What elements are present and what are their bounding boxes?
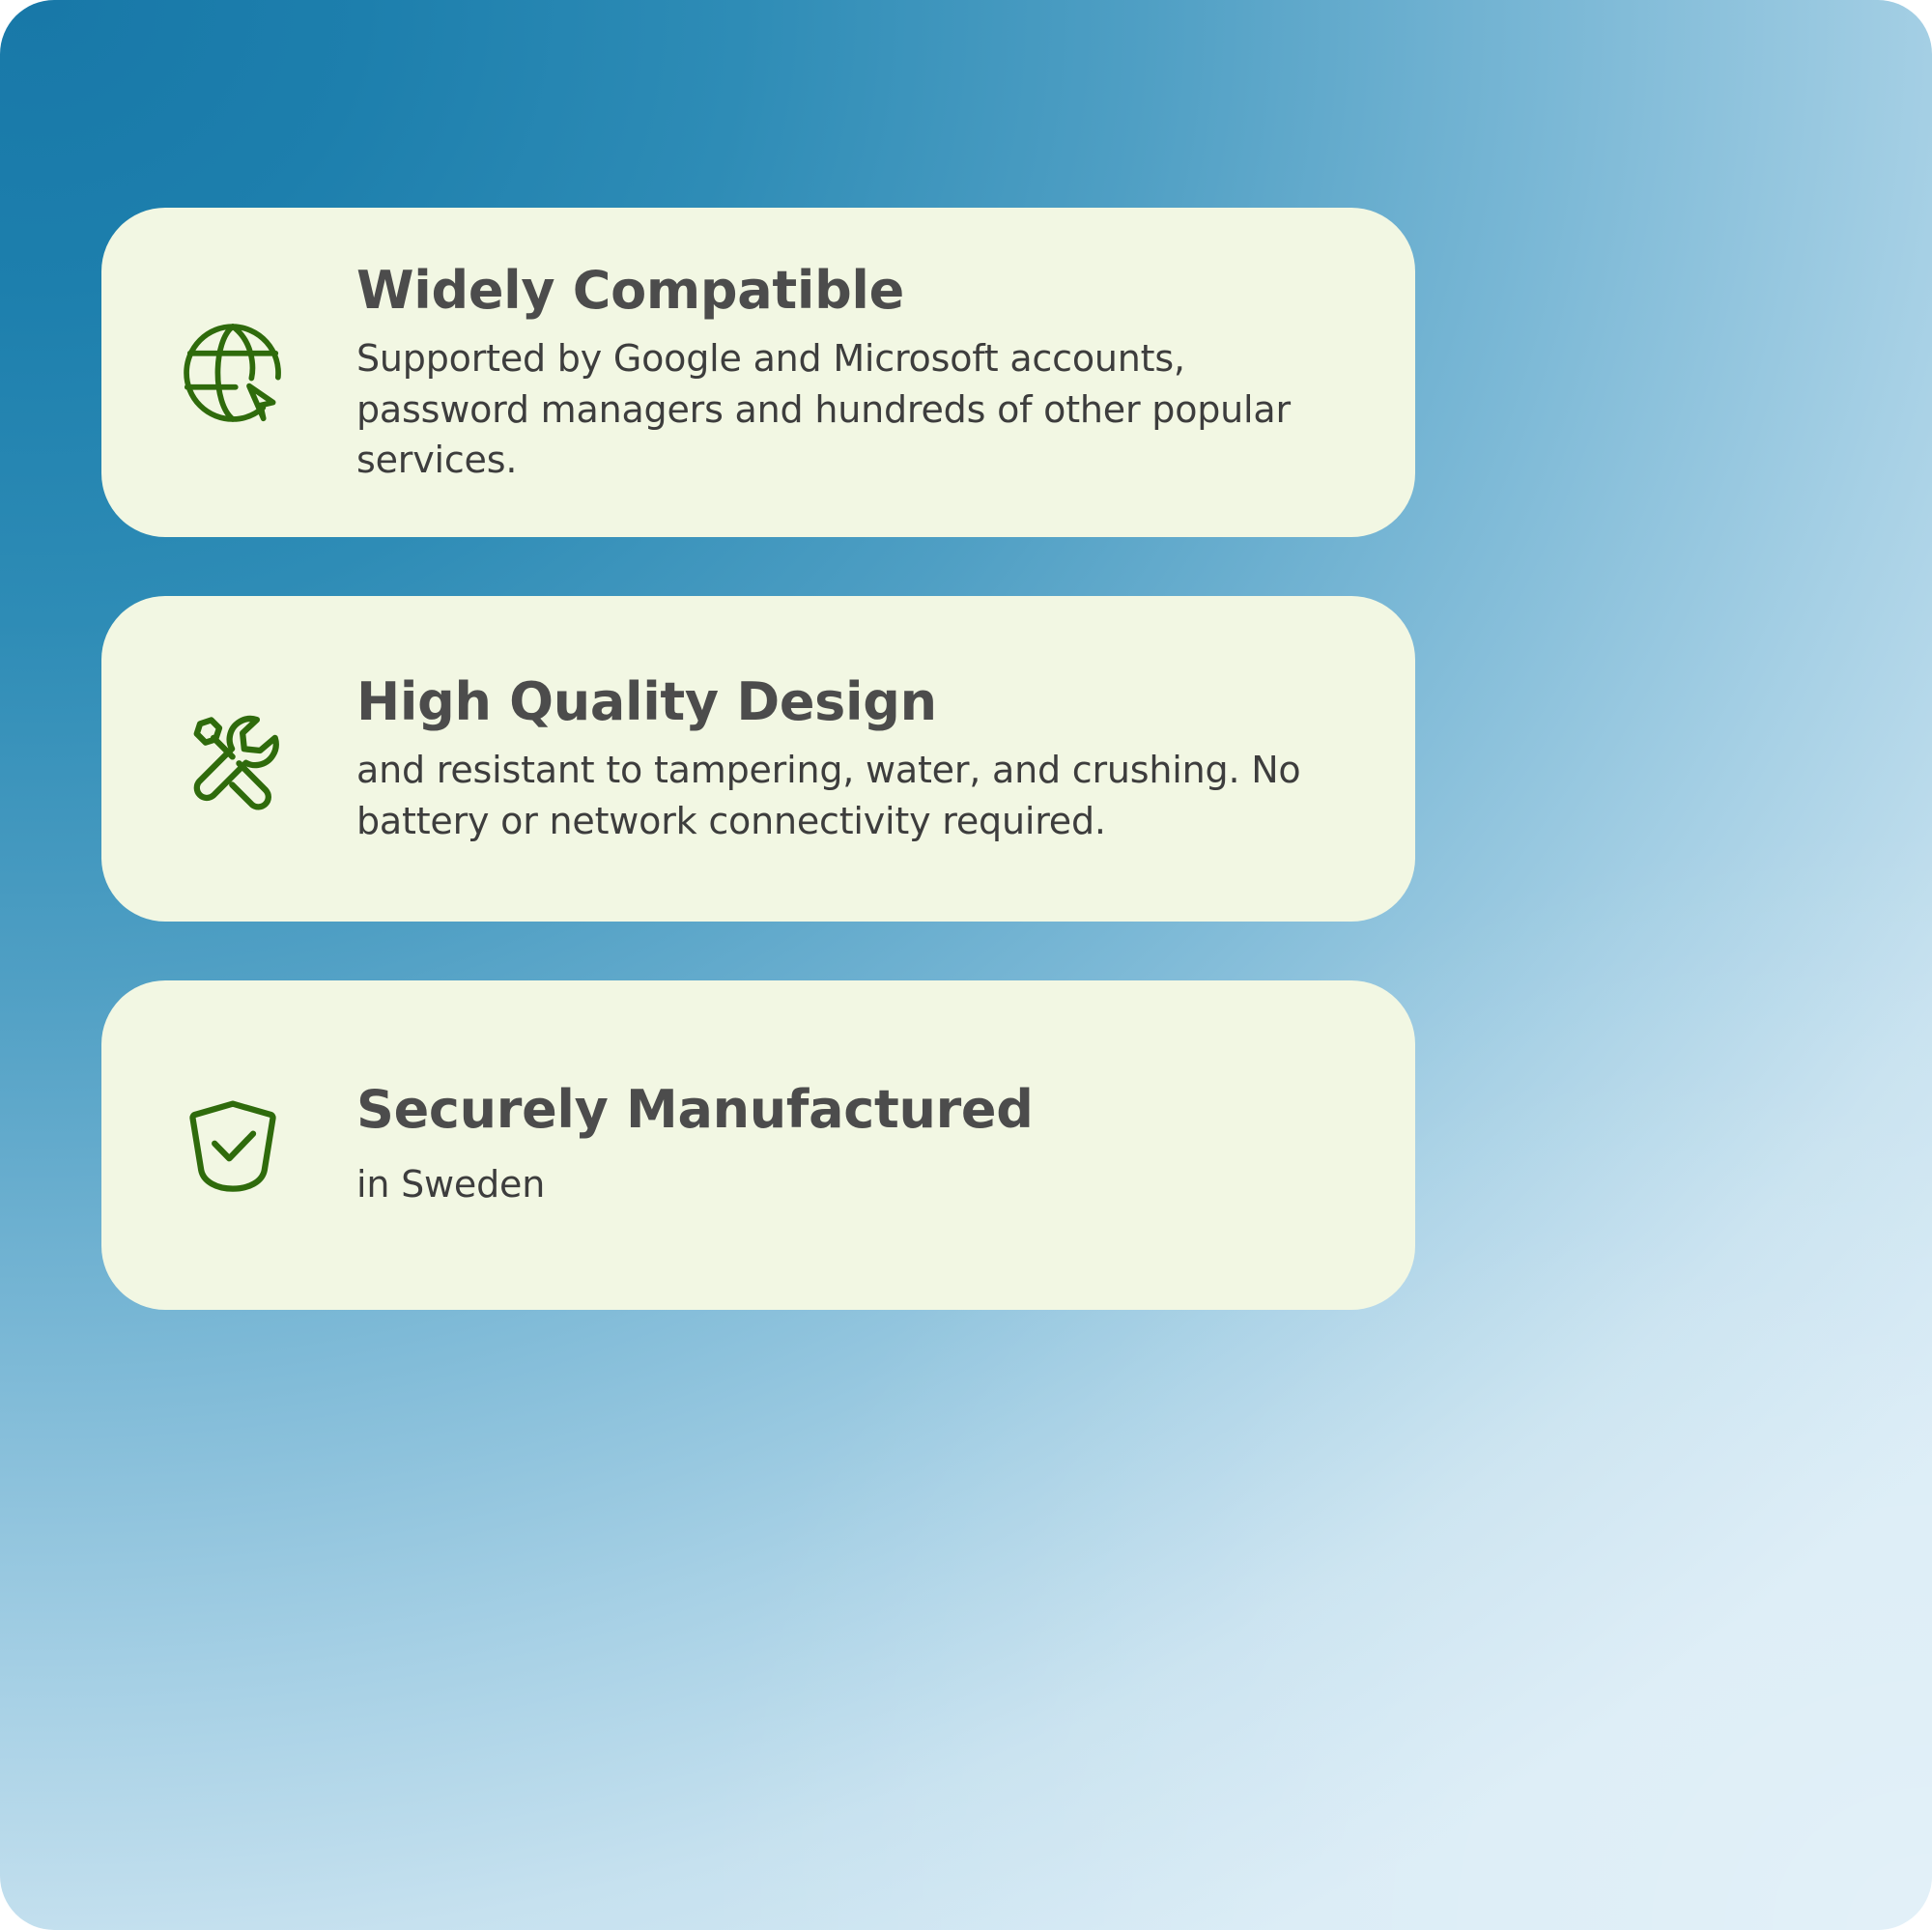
card-description: in Sweden — [356, 1159, 1355, 1209]
feature-card-list: Widely Compatible Supported by Google an… — [101, 208, 1415, 1310]
feature-card-widely-compatible[interactable]: Widely Compatible Supported by Google an… — [101, 208, 1415, 537]
wrench-screwdriver-icon — [173, 699, 293, 819]
globe-cursor-icon — [173, 313, 293, 433]
card-text-block: Securely Manufactured in Sweden — [356, 1081, 1355, 1209]
card-description: and resistant to tampering, water, and c… — [356, 745, 1355, 846]
feature-highlights-panel: Widely Compatible Supported by Google an… — [0, 0, 1932, 1930]
card-title: High Quality Design — [356, 673, 1355, 731]
card-description: Supported by Google and Microsoft accoun… — [356, 333, 1355, 485]
card-title: Widely Compatible — [356, 262, 1355, 320]
card-text-block: High Quality Design and resistant to tam… — [356, 671, 1355, 846]
feature-card-securely-manufactured[interactable]: Securely Manufactured in Sweden — [101, 980, 1415, 1310]
card-title: Securely Manufactured — [356, 1081, 1355, 1139]
shield-check-icon — [173, 1086, 293, 1206]
feature-card-high-quality-design[interactable]: High Quality Design and resistant to tam… — [101, 596, 1415, 922]
card-text-block: Widely Compatible Supported by Google an… — [356, 260, 1355, 486]
